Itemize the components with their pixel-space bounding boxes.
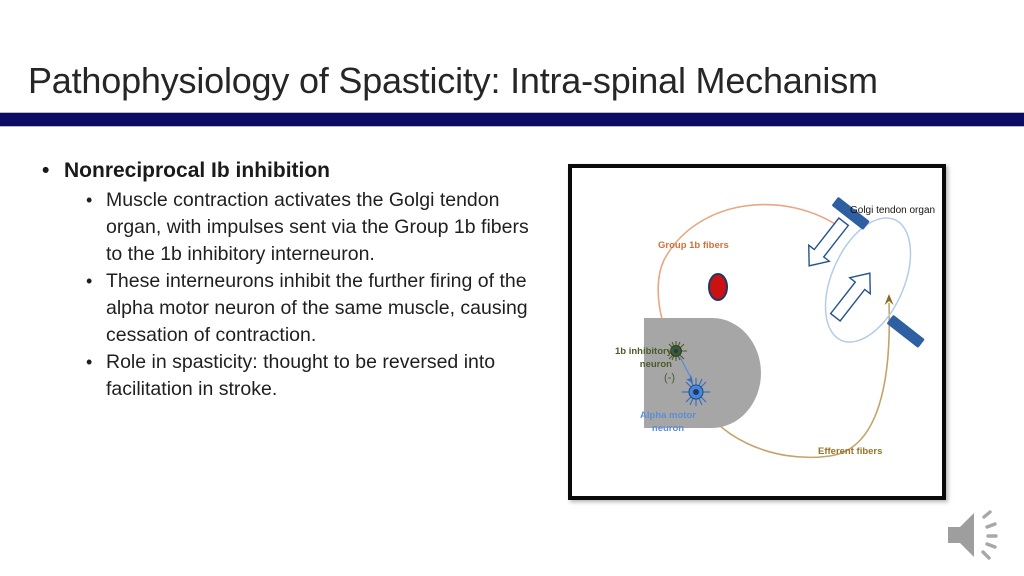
title-accent-bar xyxy=(0,112,1024,127)
speaker-icon[interactable] xyxy=(944,506,1006,564)
label-golgi-tendon-organ: Golgi tendon organ xyxy=(850,204,935,218)
body-text-block: • Nonreciprocal Ib inhibition • Muscle c… xyxy=(34,158,534,404)
label-1b-inhibitory-neuron: 1b inhibitory neuron xyxy=(580,346,672,372)
bullet-dot-icon: • xyxy=(86,349,92,375)
bullet-level2: • Role in spasticity: thought to be reve… xyxy=(34,349,534,402)
slide-canvas: Pathophysiology of Spasticity: Intra-spi… xyxy=(0,0,1024,576)
bullet-dot-icon: • xyxy=(42,158,49,184)
speaker-icon-glyph xyxy=(944,506,1006,564)
lower-tendon-bar xyxy=(887,315,925,348)
label-alpha-motor-neuron-line1: Alpha motor xyxy=(614,410,722,423)
label-group-1b-fibers: Group 1b fibers xyxy=(658,240,729,253)
label-minus-sign: (-) xyxy=(664,371,675,386)
bullet-level2: • These interneurons inhibit the further… xyxy=(34,268,534,348)
bullet-dot-icon: • xyxy=(86,268,92,294)
bullet-level2-label: Role in spasticity: thought to be revers… xyxy=(106,351,495,400)
label-efferent-fibers: Efferent fibers xyxy=(818,446,882,459)
alpha-motor-neuron-cell-body xyxy=(682,378,710,406)
bullet-level2-label: These interneurons inhibit the further f… xyxy=(106,270,528,345)
bullet-dot-icon: • xyxy=(86,187,92,213)
contraction-arrow-up xyxy=(825,265,880,325)
page-title: Pathophysiology of Spasticity: Intra-spi… xyxy=(28,60,996,102)
label-alpha-motor-neuron-line2: neuron xyxy=(614,423,722,436)
red-node-marker xyxy=(709,274,727,300)
bullet-level1-label: Nonreciprocal Ib inhibition xyxy=(64,159,330,182)
contraction-arrow-down xyxy=(799,214,854,274)
bullet-level2-label: Muscle contraction activates the Golgi t… xyxy=(106,189,529,264)
diagram-image[interactable]: Golgi tendon organ Group 1b fibers 1b in… xyxy=(568,164,946,500)
label-1b-inhibitory-neuron-line2: neuron xyxy=(580,359,672,372)
bullet-level1: • Nonreciprocal Ib inhibition xyxy=(34,158,534,184)
bullet-level2: • Muscle contraction activates the Golgi… xyxy=(34,187,534,267)
label-alpha-motor-neuron: Alpha motor neuron xyxy=(614,410,722,436)
label-1b-inhibitory-neuron-line1: 1b inhibitory xyxy=(580,346,672,359)
